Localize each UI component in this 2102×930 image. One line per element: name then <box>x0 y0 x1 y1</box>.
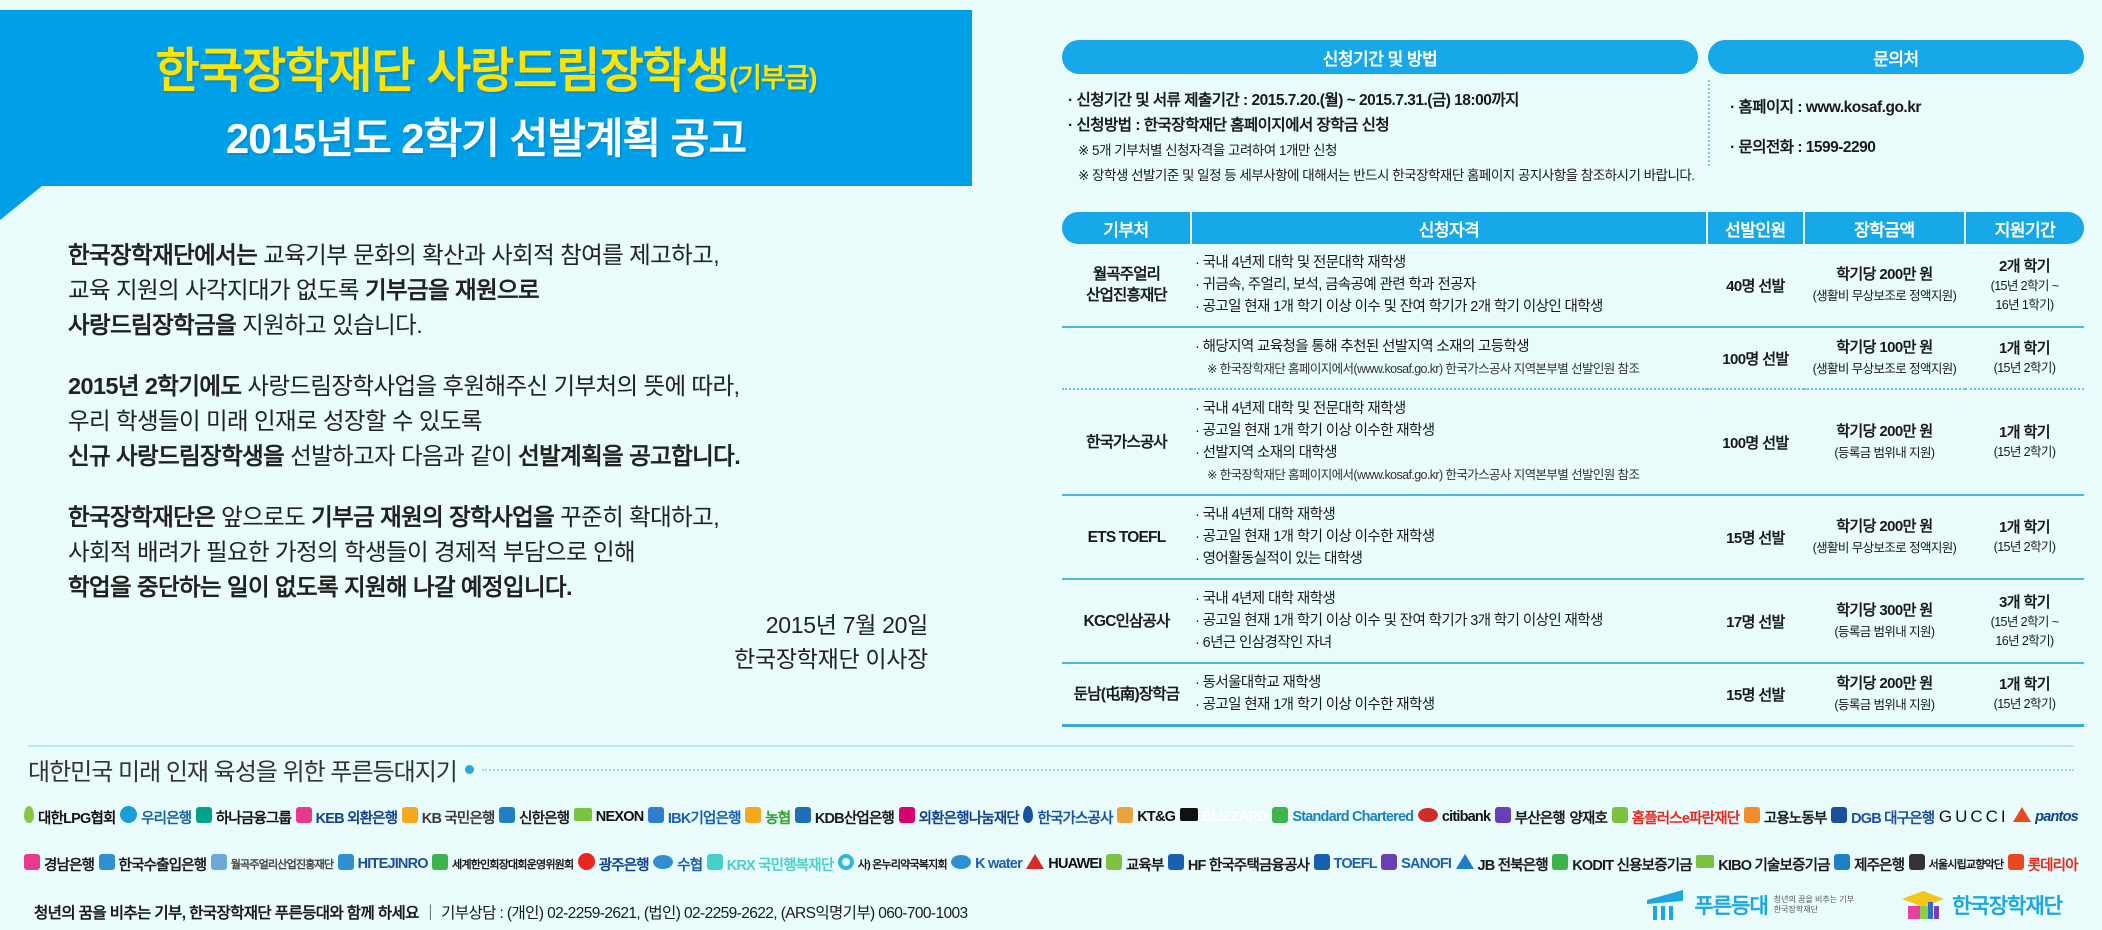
table-cell-period: 2개 학기(15년 2학기 ~16년 1학기) <box>1965 244 2084 327</box>
period-note: (15년 2학기 ~ <box>1969 613 2080 632</box>
sponsor-logo: 광주은행 <box>578 853 649 875</box>
table-cell-count: 15명 선발 <box>1707 663 1804 726</box>
table-cell-count: 40명 선발 <box>1707 244 1804 327</box>
amount-note: (등록금 범위내 지원) <box>1808 695 1961 715</box>
poster-root: 한국장학재단 사랑드림장학생(기부금) 2015년도 2학기 선발계획 공고 한… <box>0 0 2102 930</box>
sponsor-logo: KRX 국민행복재단 <box>707 854 834 875</box>
sprout-icon <box>745 807 761 828</box>
body-text: 선발하고자 다음과 같이 <box>284 443 518 469</box>
logo-mark-shape <box>1552 854 1568 870</box>
logo-mark-shape <box>1612 807 1628 823</box>
arrow-icon <box>2013 807 2031 827</box>
sponsor-logo-name: 우리은행 <box>141 807 191 828</box>
sponsor-logo-name: 월곡주얼리산업진흥재단 <box>231 856 334 872</box>
qualification-line: · 동서울대학교 재학생 <box>1195 672 1703 694</box>
table-cell-amount: 학기당 200만 원(등록금 범위내 지원) <box>1804 663 1965 726</box>
sponsor-logo: KT&G <box>1117 807 1175 828</box>
logo-mark-shape <box>795 807 811 823</box>
star-icon <box>402 807 418 828</box>
table-cell-period: 1개 학기(15년 2학기) <box>1965 327 2084 389</box>
logo-mark-shape <box>1495 807 1511 823</box>
diamond-icon <box>1456 854 1474 874</box>
table-column-header: 장학금액 <box>1804 212 1965 244</box>
sanofi-icon <box>1381 854 1397 875</box>
k-icon <box>99 854 115 875</box>
body-line: 교육 지원의 사각지대가 없도록 기부금을 재원으로 <box>68 273 968 308</box>
footer-slogan: 청년의 꿈을 비추는 기부, 한국장학재단 푸른등대와 함께 하세요 <box>34 905 419 922</box>
table-cell-count: 17명 선발 <box>1707 579 1804 663</box>
logo-mark-shape <box>432 854 448 870</box>
table-row: 둔남(屯南)장학금· 동서울대학교 재학생· 공고일 현재 1개 학기 이상 이… <box>1062 663 2084 726</box>
sponsor-logo-name: 고용노동부 <box>1764 807 1827 828</box>
sponsor-logo: HF 한국주택금융공사 <box>1168 854 1309 875</box>
sponsor-logo-name: 부산은행 <box>1515 807 1565 828</box>
person-icon <box>196 807 212 828</box>
logo-mark-shape <box>838 854 854 870</box>
bars-icon <box>1909 854 1925 875</box>
swirl2-icon <box>211 854 227 875</box>
table-cell-period: 1개 학기(15년 2학기) <box>1965 663 2084 726</box>
logo-mark-shape <box>296 807 312 823</box>
logo-mark-shape <box>1418 808 1438 822</box>
check-icon <box>296 807 312 828</box>
title-main-text: 한국장학재단 사랑드림장학생 <box>156 45 729 98</box>
dashed-line <box>482 769 2074 771</box>
table-cell-qualifications: · 국내 4년제 대학 및 전문대학 재학생· 공고일 현재 1개 학기 이상 … <box>1191 389 1707 495</box>
arc-icon <box>1418 808 1438 827</box>
apply-info-line: · 신청방법 : 한국장학재단 홈페이지에서 장학금 신청 <box>1068 113 1694 138</box>
sponsor-logo-name: HF 한국주택금융공사 <box>1188 854 1309 875</box>
flame-icon <box>24 806 34 828</box>
flameball-icon <box>1023 806 1033 828</box>
table-cell-qualifications: · 국내 4년제 대학 및 전문대학 재학생· 귀금속, 주얼리, 보석, 금속… <box>1191 244 1707 327</box>
body-text: 사랑드림장학사업을 후원해주신 기부처의 뜻에 따라, <box>241 373 739 399</box>
kodit-icon <box>1552 854 1568 875</box>
body-text: 교육기부 문화의 확산과 사회적 참여를 제고하고, <box>257 242 719 268</box>
sponsor-logo-name: 세계한인회장대회운영위원회 <box>452 856 573 872</box>
body-emphasis: 한국장학재단은 <box>68 504 215 530</box>
logo-mark-shape <box>1696 855 1714 868</box>
qualification-line: ※ 한국장학재단 홈페이지에서(www.kosaf.go.kr) 한국가스공사 … <box>1195 464 1703 486</box>
sponsor-logo-name: 신한은행 <box>519 807 569 828</box>
amount-value: 학기당 300만 원 <box>1808 600 1961 622</box>
body-line: 신규 사랑드림장학생을 선발하고자 다음과 같이 선발계획을 공고합니다. <box>68 439 968 474</box>
sponsor-logo-name: 사) 온누리약국복지회 <box>858 856 947 872</box>
qualification-line: · 귀금속, 주얼리, 보석, 금속공예 관련 학과 전공자 <box>1195 274 1703 296</box>
sponsor-logo-name: KT&G <box>1137 809 1175 825</box>
lotte-icon <box>2008 854 2024 875</box>
sponsor-logo: Standard Chartered <box>1272 807 1413 828</box>
logo-mark-shape <box>1456 854 1474 869</box>
sponsor-logo: KIBO 기술보증기금 <box>1696 854 1830 875</box>
amount-note: (등록금 범위내 지원) <box>1808 622 1961 642</box>
sponsor-logo-name: pantos <box>2035 809 2078 825</box>
apply-info-line: · 신청기간 및 서류 제출기간 : 2015.7.20.(월) ~ 2015.… <box>1068 88 1694 113</box>
contact-info-line: · 문의전화 : 1599-2290 <box>1730 128 2080 168</box>
heart-icon <box>24 854 40 875</box>
body-line: 학업을 중단하는 일이 없도록 지원해 나갈 예정입니다. <box>68 570 968 605</box>
sponsor-logo-row-2: 경남은행한국수출입은행월곡주얼리산업진흥재단HITEJINRO세계한인회장대회운… <box>24 842 2078 886</box>
sponsor-logo: HITEJINRO <box>338 854 428 875</box>
logo-mark-shape <box>1831 807 1847 823</box>
qualification-line: · 선발지역 소재의 대학생 <box>1195 442 1703 464</box>
logo-mark-shape <box>99 854 115 870</box>
table-cell-count: 15명 선발 <box>1707 495 1804 579</box>
sponsor-logo-name: NEXON <box>596 809 644 825</box>
table-column-header: 지원기간 <box>1965 212 2084 244</box>
logo-mark-shape <box>1272 807 1288 823</box>
logo-mark-shape <box>1168 854 1184 870</box>
qualification-line: · 공고일 현재 1개 학기 이상 이수 및 잔여 학기가 3개 학기 이상인 … <box>1195 610 1703 632</box>
globe2-icon <box>1834 854 1850 875</box>
logo-mark-shape <box>1909 854 1925 870</box>
qualification-line: · 국내 4년제 대학 및 전문대학 재학생 <box>1195 398 1703 420</box>
cube-icon <box>574 808 592 826</box>
sponsor-logo: IBK기업은행 <box>648 807 741 828</box>
qualification-line: · 공고일 현재 1개 학기 이상 이수한 재학생 <box>1195 420 1703 442</box>
logo-mark-shape <box>653 855 673 869</box>
sponsor-logo-name: Standard Chartered <box>1292 809 1413 825</box>
swirl-icon <box>795 807 811 828</box>
dgb-icon <box>1831 807 1847 828</box>
logo-mark-shape <box>899 807 915 823</box>
sponsor-logo: KB 국민은행 <box>402 807 495 828</box>
logo-mark-shape <box>1180 808 1198 821</box>
sponsor-logo-name: HITEJINRO <box>358 856 428 872</box>
table-body: 월곡주얼리산업진흥재단· 국내 4년제 대학 및 전문대학 재학생· 귀금속, … <box>1062 244 2084 726</box>
sponsor-logo: HUAWEI <box>1026 854 1101 874</box>
table-column-header: 선발인원 <box>1707 212 1804 244</box>
sponsor-logo: 우리은행 <box>120 806 191 828</box>
apply-info-box: 신청기간 및 방법 · 신청기간 및 서류 제출기간 : 2015.7.20.(… <box>1062 40 1698 188</box>
sponsor-logo-name: JB 전북은행 <box>1478 854 1548 875</box>
sponsor-logo: 고용노동부 <box>1744 807 1827 828</box>
qualification-line: · 6년근 인삼경작인 자녀 <box>1195 632 1703 654</box>
sponsor-logo: KEB 외환은행 <box>296 807 398 828</box>
sponsor-logo-name: DGB 대구은행 <box>1851 807 1934 828</box>
qualification-line: · 영어활동실적이 있는 대학생 <box>1195 548 1703 570</box>
sponsor-logo-name: 제주은행 <box>1854 854 1904 875</box>
logo-mark-shape <box>2013 807 2031 822</box>
sponsor-logo-name: HUAWEI <box>1048 856 1101 872</box>
body-text: 지원하고 있습니다. <box>236 312 422 338</box>
table-cell-count: 100명 선발 <box>1707 327 1804 389</box>
logo-mark-shape <box>24 854 40 870</box>
ring-icon <box>838 854 854 875</box>
qualification-line: ※ 한국장학재단 홈페이지에서(www.kosaf.go.kr) 한국가스공사 … <box>1195 358 1703 380</box>
sponsor-logo-name: 농협 <box>765 807 790 828</box>
sponsor-logo: 롯데리아 <box>2008 854 2078 875</box>
body-line: 2015년 2학기에도 사랑드림장학사업을 후원해주신 기부처의 뜻에 따라, <box>68 369 968 404</box>
table-cell-qualifications: · 동서울대학교 재학생· 공고일 현재 1개 학기 이상 이수한 재학생 <box>1191 663 1707 726</box>
title-line-1: 한국장학재단 사랑드림장학생(기부금) <box>156 31 817 101</box>
qualification-line: · 공고일 현재 1개 학기 이상 이수한 재학생 <box>1195 526 1703 548</box>
logo-mark-shape <box>1023 806 1033 823</box>
logo-mark-shape <box>499 807 515 823</box>
sponsor-logo-name: 대한LPG협회 <box>38 807 116 828</box>
logo-mark-shape <box>648 807 664 823</box>
logo-mark-shape <box>338 854 354 870</box>
sponsor-logo-name: 수협 <box>677 854 702 875</box>
table-cell-period: 3개 학기(15년 2학기 ~16년 2학기) <box>1965 579 2084 663</box>
period-note: 16년 2학기) <box>1969 632 2080 651</box>
table-cell-donor: 둔남(屯南)장학금 <box>1062 663 1191 726</box>
logo-mark-shape <box>120 806 137 823</box>
table-cell-donor: ETS TOEFL <box>1062 495 1191 579</box>
sponsor-logo-name: KEB 외환은행 <box>316 807 398 828</box>
kosaf-logo: 한국장학재단 <box>1900 888 2062 922</box>
sponsor-logo: 제주은행 <box>1834 854 1904 875</box>
table-cell-period: 1개 학기(15년 2학기) <box>1965 389 2084 495</box>
sponsor-logo-row-1: 대한LPG협회우리은행하나금융그룹KEB 외환은행KB 국민은행신한은행NEXO… <box>24 795 2078 839</box>
redball-icon <box>578 853 595 875</box>
period-value: 3개 학기 <box>1969 592 2080 613</box>
period-note: (15년 2학기) <box>1969 538 2080 557</box>
amount-value: 학기당 100만 원 <box>1808 337 1961 359</box>
body-line: 사랑드림장학금을 지원하고 있습니다. <box>68 308 968 343</box>
table-cell-amount: 학기당 100만 원(생활비 무상보조로 정액지원) <box>1804 327 1965 389</box>
scholarship-table: 기부처신청자격선발인원장학금액지원기간 월곡주얼리산업진흥재단· 국내 4년제 … <box>1062 212 2084 727</box>
amount-note: (생활비 무상보조로 정액지원) <box>1808 538 1961 558</box>
arcblue-icon <box>951 855 971 874</box>
sponsor-logo-name: 롯데리아 <box>2028 854 2078 875</box>
sponsor-logo: KODIT 신용보증기금 <box>1552 854 1692 875</box>
sponsor-logo-name: IBK기업은행 <box>668 807 741 828</box>
sponsor-logo-name: 외환은행나눔재단 <box>919 807 1019 828</box>
period-note: (15년 2학기) <box>1969 359 2080 378</box>
bs-icon <box>1495 807 1511 828</box>
sponsor-logo: K water <box>951 855 1022 874</box>
leaf-icon <box>1272 807 1288 828</box>
table-row: 월곡주얼리산업진흥재단· 국내 4년제 대학 및 전문대학 재학생· 귀금속, … <box>1062 244 2084 327</box>
body-emphasis: 기부금을 재원으로 <box>365 277 539 303</box>
logo-mark-shape <box>1314 854 1330 870</box>
hf-icon <box>1168 854 1184 875</box>
sponsor-logo: 홈플러스e파란재단 <box>1612 807 1740 828</box>
body-text: 우리 학생들이 미래 인재로 성장할 수 있도록 <box>68 408 482 434</box>
sponsor-logo: 교육부 <box>1106 854 1164 875</box>
qualification-line: · 공고일 현재 1개 학기 이상 이수한 재학생 <box>1195 694 1703 716</box>
footer-divider: ｜ <box>423 905 438 922</box>
logo-mark-shape <box>574 808 592 821</box>
contact-info-line: · 홈페이지 : www.kosaf.go.kr <box>1730 88 2080 128</box>
period-note: 16년 1학기) <box>1969 296 2080 315</box>
table-cell-qualifications: · 국내 4년제 대학 재학생· 공고일 현재 1개 학기 이상 이수한 재학생… <box>1191 495 1707 579</box>
logo-mark-shape <box>707 854 723 870</box>
body-text: 꾸준히 확대하고, <box>554 504 719 530</box>
logo-mark-shape <box>1117 807 1133 823</box>
sponsor-logo: 부산은행 <box>1495 807 1565 828</box>
sponsor-logo: 경남은행 <box>24 854 94 875</box>
body-text: 사회적 배려가 필요한 가정의 학생들이 경제적 부담으로 인해 <box>68 539 635 565</box>
apply-info-header: 신청기간 및 방법 <box>1062 40 1698 74</box>
signature-block: 2015년 7월 20일 한국장학재단 이사장 <box>68 608 968 676</box>
kosaf-name: 한국장학재단 <box>1952 890 2062 920</box>
logo-mark-shape <box>24 806 34 823</box>
kibo-icon <box>1696 855 1714 873</box>
sponsor-logo: 서울시립교향악단 <box>1909 854 2004 875</box>
wing-icon <box>899 807 915 828</box>
table-cell-count: 100명 선발 <box>1707 389 1804 495</box>
logo-mark-shape <box>1381 854 1397 870</box>
amount-note: (등록금 범위내 지원) <box>1808 443 1961 463</box>
sponsor-logo-name: KODIT 신용보증기금 <box>1572 854 1692 875</box>
body-text: 앞으로도 <box>215 504 311 530</box>
signature-date: 2015년 7월 20일 <box>68 608 968 642</box>
signature-name: 한국장학재단 이사장 <box>68 642 968 676</box>
blue-lighthouse-sub2: 한국장학재단 <box>1774 905 1854 915</box>
table-cell-donor: 월곡주얼리산업진흥재단 <box>1062 244 1191 327</box>
wave-icon <box>653 855 673 874</box>
body-paragraph: 2015년 2학기에도 사랑드림장학사업을 후원해주신 기부처의 뜻에 따라,우… <box>68 369 968 474</box>
footer-logos: 푸른등대 청년의 꿈을 비추는 기부 한국장학재단 한국장학재단 <box>1643 888 2062 922</box>
petal-icon <box>1026 854 1044 874</box>
amount-note: (생활비 무상보조로 정액지원) <box>1808 286 1961 306</box>
logo-mark-shape <box>951 855 971 869</box>
sponsor-logo-name: KDB산업은행 <box>815 807 894 828</box>
table-row: 한국가스공사· 국내 4년제 대학 및 전문대학 재학생· 공고일 현재 1개 … <box>1062 389 2084 495</box>
body-line: 한국장학재단에서는 교육기부 문화의 확산과 사회적 참여를 제고하고, <box>68 238 968 273</box>
sponsor-logo: 한국수출입은행 <box>99 854 207 875</box>
apply-info-line: ※ 5개 기부처별 신청자격을 고려하여 1개만 신청 <box>1068 138 1694 163</box>
table-cell-donor <box>1062 327 1191 389</box>
sponsor-logo-name: 한국수출입은행 <box>119 854 207 875</box>
sponsor-logo: SANOFI <box>1381 854 1451 875</box>
logo-mark-shape <box>402 807 418 823</box>
sponsor-logo-name: 광주은행 <box>599 854 649 875</box>
body-emphasis: 한국장학재단에서는 <box>68 242 257 268</box>
amount-value: 학기당 200만 원 <box>1808 673 1961 695</box>
drop-icon <box>338 854 354 875</box>
apply-info-line: ※ 장학생 선발기준 및 일정 등 세부사항에 대해서는 반드시 한국장학재단 … <box>1068 163 1694 188</box>
body-text: 교육 지원의 사각지대가 없도록 <box>68 277 365 303</box>
blue-lighthouse-sub1: 청년의 꿈을 비추는 기부 <box>1774 895 1854 905</box>
e-icon <box>1744 807 1760 828</box>
period-note: (15년 2학기) <box>1969 695 2080 714</box>
body-line: 한국장학재단은 앞으로도 기부금 재원의 장학사업을 꾸준히 확대하고, <box>68 500 968 535</box>
qualification-line: · 국내 4년제 대학 재학생 <box>1195 504 1703 526</box>
amount-value: 학기당 200만 원 <box>1808 421 1961 443</box>
amount-value: 학기당 200만 원 <box>1808 516 1961 538</box>
blizzard-icon <box>1180 808 1198 826</box>
sponsor-logo: 외환은행나눔재단 <box>899 807 1019 828</box>
sponsor-divider <box>28 745 2074 747</box>
body-line: 우리 학생들이 미래 인재로 성장할 수 있도록 <box>68 404 968 439</box>
sponsor-logo-name: GUCCI <box>1939 807 2009 827</box>
logo-mark-shape <box>211 854 227 870</box>
period-value: 2개 학기 <box>1969 256 2080 277</box>
logo-mark-shape <box>1026 854 1044 869</box>
table-cell-qualifications: · 국내 4년제 대학 재학생· 공고일 현재 1개 학기 이상 이수 및 잔여… <box>1191 579 1707 663</box>
logo-mark-shape <box>578 853 595 870</box>
sponsor-logo: GUCCI <box>1939 807 2009 827</box>
body-emphasis: 2015년 2학기에도 <box>68 373 241 399</box>
sponsor-logo: KDB산업은행 <box>795 807 894 828</box>
contact-info-box: 문의처 · 홈페이지 : www.kosaf.go.kr· 문의전화 : 159… <box>1708 40 2084 188</box>
sponsor-logo: 수협 <box>653 854 702 875</box>
period-note: (15년 2학기 ~ <box>1969 277 2080 296</box>
table-column-header: 기부처 <box>1062 212 1191 244</box>
sponsor-logo-name: 하나금융그룹 <box>216 807 291 828</box>
period-value: 1개 학기 <box>1969 517 2080 538</box>
sponsor-logo-name: citibank <box>1442 809 1490 825</box>
table-cell-amount: 학기당 200만 원(생활비 무상보조로 정액지원) <box>1804 244 1965 327</box>
table-header-row: 기부처신청자격선발인원장학금액지원기간 <box>1062 212 2084 244</box>
logo-mark-shape <box>1106 854 1122 870</box>
table-cell-amount: 학기당 200만 원(등록금 범위내 지원) <box>1804 389 1965 495</box>
body-line: 사회적 배려가 필요한 가정의 학생들이 경제적 부담으로 인해 <box>68 535 968 570</box>
body-paragraph: 한국장학재단은 앞으로도 기부금 재원의 장학사업을 꾸준히 확대하고,사회적 … <box>68 500 968 605</box>
sponsor-logo: 대한LPG협회 <box>24 806 116 828</box>
table-row: KGC인삼공사· 국내 4년제 대학 재학생· 공고일 현재 1개 학기 이상 … <box>1062 579 2084 663</box>
sponsor-logo: citibank <box>1418 808 1490 827</box>
body-emphasis: 신규 사랑드림장학생을 <box>68 443 284 469</box>
lighthouse-icon <box>1643 888 1689 922</box>
title-banner: 한국장학재단 사랑드림장학생(기부금) 2015년도 2학기 선발계획 공고 <box>0 10 972 186</box>
table-cell-amount: 학기당 300만 원(등록금 범위내 지원) <box>1804 579 1965 663</box>
sponsor-logo: 사) 온누리약국복지회 <box>838 854 947 875</box>
sprout2-icon <box>1612 807 1628 828</box>
scholarship-table-wrap: 기부처신청자격선발인원장학금액지원기간 월곡주얼리산업진흥재단· 국내 4년제 … <box>1062 212 2084 727</box>
logo-mark-shape <box>1834 854 1850 870</box>
sponsor-logo-name: TOEFL <box>1334 856 1377 872</box>
sponsor-logo-name: BLIZZARD <box>1202 809 1268 825</box>
sponsor-logo-name: 경남은행 <box>44 854 94 875</box>
table-cell-donor: 한국가스공사 <box>1062 389 1191 495</box>
body-paragraph: 한국장학재단에서는 교육기부 문화의 확산과 사회적 참여를 제고하고,교육 지… <box>68 238 968 343</box>
sponsor-logo: 월곡주얼리산업진흥재단 <box>211 854 334 875</box>
sponsor-logo-name: 양재호 <box>1570 807 1608 828</box>
sponsor-logo-name: K water <box>975 856 1022 872</box>
amount-note: (생활비 무상보조로 정액지원) <box>1808 359 1961 379</box>
brush-icon <box>1117 807 1133 828</box>
period-value: 1개 학기 <box>1969 674 2080 695</box>
bullet-dot-icon <box>465 765 474 774</box>
footer-text: 청년의 꿈을 비추는 기부, 한국장학재단 푸른등대와 함께 하세요 ｜ 기부상… <box>34 901 968 923</box>
qualification-line: · 해당지역 교육청을 통해 추천된 선발지역 소재의 고등학생 <box>1195 336 1703 358</box>
table-column-header: 신청자격 <box>1191 212 1707 244</box>
body-emphasis: 기부금 재원의 장학사업을 <box>311 504 554 530</box>
table-row: · 해당지역 교육청을 통해 추천된 선발지역 소재의 고등학생※ 한국장학재단… <box>1062 327 2084 389</box>
sponsor-logo: 농협 <box>745 807 790 828</box>
qualification-line: · 공고일 현재 1개 학기 이상 이수 및 잔여 학기가 2개 학기 이상인 … <box>1195 296 1703 318</box>
period-value: 1개 학기 <box>1969 338 2080 359</box>
period-note: (15년 2학기) <box>1969 443 2080 462</box>
body-emphasis: 사랑드림장학금을 <box>68 312 236 338</box>
table-header: 기부처신청자격선발인원장학금액지원기간 <box>1062 212 2084 244</box>
logo-mark-shape <box>2008 854 2024 870</box>
footer-contact: 기부상담 : (개인) 02-2259-2621, (법인) 02-2259-2… <box>441 905 967 922</box>
logo-mark-shape <box>745 807 761 823</box>
sponsor-logo-name: 교육부 <box>1126 854 1164 875</box>
circle-icon <box>120 806 137 828</box>
sponsor-logo: 하나금융그룹 <box>196 807 291 828</box>
sponsor-logo: BLIZZARD <box>1180 808 1268 826</box>
sponsor-logo-name: 홈플러스e파란재단 <box>1632 807 1740 828</box>
amount-value: 학기당 200만 원 <box>1808 264 1961 286</box>
graduation-cap-icon <box>1900 888 1946 922</box>
sponsor-logo-name: SANOFI <box>1401 856 1451 872</box>
logo-mark-shape <box>1744 807 1760 823</box>
apply-info-body: · 신청기간 및 서류 제출기간 : 2015.7.20.(월) ~ 2015.… <box>1062 74 1698 188</box>
sponsor-heading: 대한민국 미래 인재 육성을 위한 푸른등대지기 <box>28 752 2074 787</box>
globe-icon <box>499 807 515 828</box>
logo-mark-shape <box>196 807 212 823</box>
sponsor-logo: NEXON <box>574 808 644 826</box>
sponsor-heading-text: 대한민국 미래 인재 육성을 위한 푸른등대지기 <box>28 752 457 787</box>
title-paren-text: (기부금) <box>729 63 817 93</box>
sponsor-logo-name: 서울시립교향악단 <box>1929 856 2004 872</box>
